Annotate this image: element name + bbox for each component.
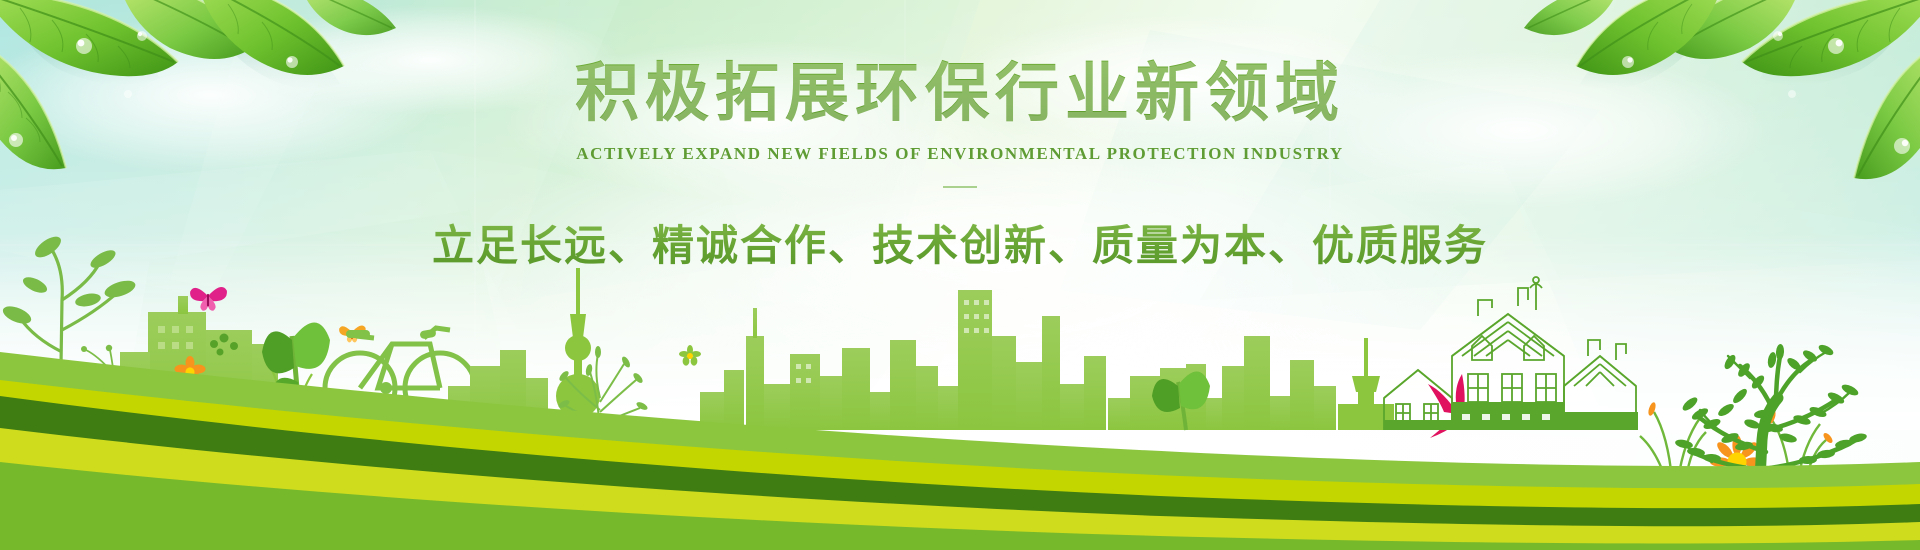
butterfly-icon (190, 287, 227, 311)
company-slogan: 立足长远、精诚合作、技术创新、质量为本、优质服务 (0, 212, 1920, 273)
banner-text-block: 积极拓展环保行业新领域 ACTIVELY EXPAND NEW FIELDS O… (0, 0, 1920, 273)
eco-banner: 积极拓展环保行业新领域 ACTIVELY EXPAND NEW FIELDS O… (0, 0, 1920, 550)
page-title: 积极拓展环保行业新领域 (0, 0, 1920, 130)
daisy-flower-icon (679, 345, 701, 366)
page-subtitle: ACTIVELY EXPAND NEW FIELDS OF ENVIRONMEN… (0, 144, 1920, 164)
title-divider (943, 186, 977, 188)
